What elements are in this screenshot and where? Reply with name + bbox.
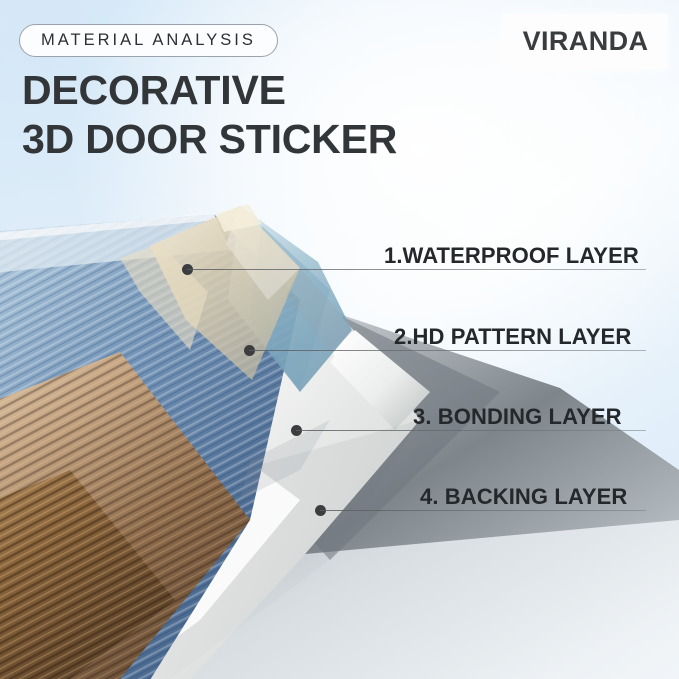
callout-label: 1.WATERPROOF LAYER: [384, 243, 639, 269]
callout-label: 4. BACKING LAYER: [420, 484, 627, 510]
callout-leader-line: [249, 350, 646, 351]
brand-name: VIRANDA: [523, 26, 649, 57]
callout-label: 2.HD PATTERN LAYER: [394, 324, 631, 350]
callout-label: 3. BONDING LAYER: [413, 404, 622, 430]
title-line-2: 3D DOOR STICKER: [22, 115, 397, 164]
eyebrow-label: MATERIAL ANALYSIS: [41, 31, 256, 50]
eyebrow-badge: MATERIAL ANALYSIS: [19, 24, 278, 57]
callout-leader-line: [296, 430, 646, 431]
callout-leader-line: [320, 510, 646, 511]
poster-canvas: MATERIAL ANALYSIS DECORATIVE 3D DOOR STI…: [0, 0, 679, 679]
callout-leader-line: [187, 269, 646, 270]
brand-logo: VIRANDA: [503, 14, 668, 69]
title-line-1: DECORATIVE: [22, 67, 286, 113]
page-title: DECORATIVE 3D DOOR STICKER: [22, 66, 397, 164]
